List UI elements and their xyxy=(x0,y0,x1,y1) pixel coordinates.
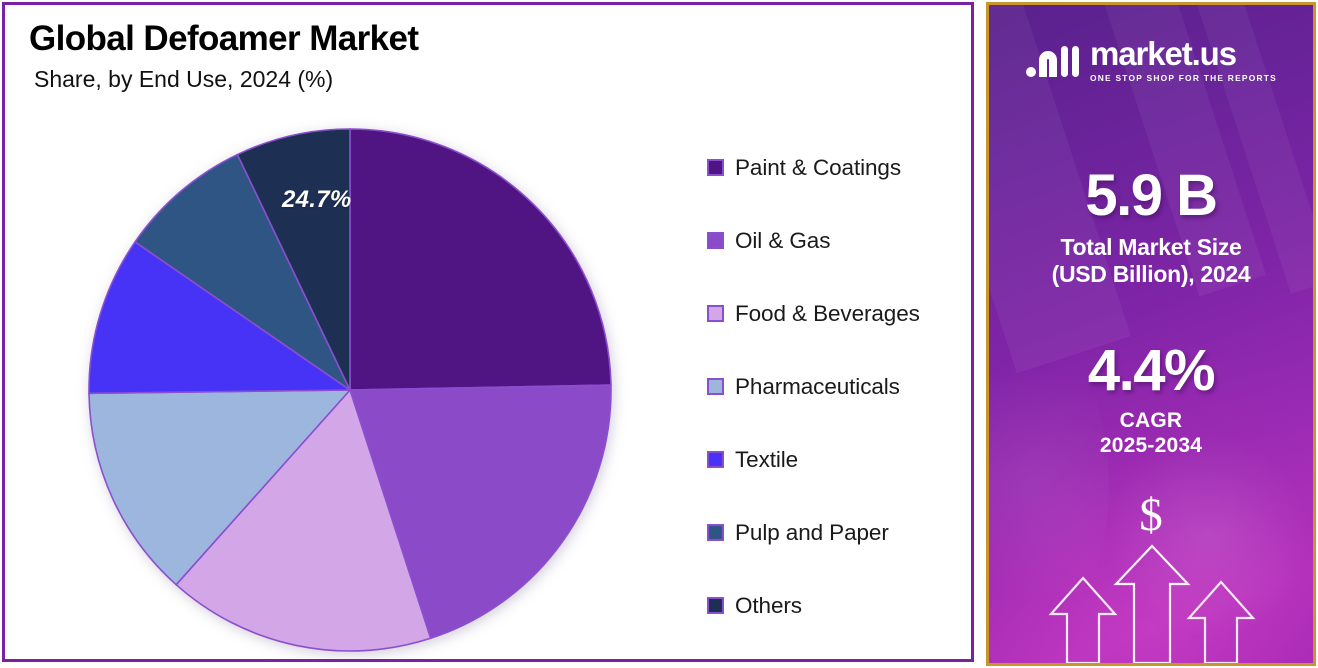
brand-stats-panel: market.us ONE STOP SHOP FOR THE REPORTS … xyxy=(986,2,1316,666)
pie-slice-label-paint-coatings: 24.7% xyxy=(282,186,352,214)
logo-text: market.us ONE STOP SHOP FOR THE REPORTS xyxy=(1090,37,1277,83)
legend-label: Pulp and Paper xyxy=(735,520,889,546)
legend-label: Pharmaceuticals xyxy=(735,374,900,400)
cagr-caption-line1: CAGR xyxy=(989,409,1313,434)
dollar-sign-icon: $ xyxy=(989,492,1313,539)
legend-label: Textile xyxy=(735,447,798,473)
legend-swatch-icon xyxy=(707,451,724,468)
legend-item-paint-coatings[interactable]: Paint & Coatings xyxy=(707,131,972,204)
market-size-caption-line2: (USD Billion), 2024 xyxy=(989,261,1313,288)
legend-label: Paint & Coatings xyxy=(735,155,901,181)
legend-label: Oil & Gas xyxy=(735,228,830,254)
cagr-stat: 4.4% CAGR 2025-2034 xyxy=(989,342,1313,459)
page-subtitle: Share, by End Use, 2024 (%) xyxy=(34,66,418,93)
market-size-value: 5.9 B xyxy=(989,167,1313,225)
page-title: Global Defoamer Market xyxy=(29,21,418,58)
pie-chart: 24.7% xyxy=(85,124,619,658)
market-size-caption-line1: Total Market Size xyxy=(989,234,1313,261)
logo-wordmark: market.us xyxy=(1090,37,1277,70)
legend-item-others[interactable]: Others xyxy=(707,569,972,642)
logo-tagline: ONE STOP SHOP FOR THE REPORTS xyxy=(1090,73,1277,83)
legend-swatch-icon xyxy=(707,378,724,395)
legend-item-food-beverages[interactable]: Food & Beverages xyxy=(707,277,972,350)
legend-item-textile[interactable]: Textile xyxy=(707,423,972,496)
arrow-up-center-icon xyxy=(1116,546,1188,663)
cagr-caption-line2: 2025-2034 xyxy=(989,434,1313,459)
title-block: Global Defoamer Market Share, by End Use… xyxy=(29,21,418,93)
legend-item-oil-gas[interactable]: Oil & Gas xyxy=(707,204,972,277)
arrow-up-right-icon xyxy=(1189,582,1253,663)
market-us-logo-icon xyxy=(1025,38,1081,82)
legend-item-pharmaceuticals[interactable]: Pharmaceuticals xyxy=(707,350,972,423)
legend-label: Others xyxy=(735,593,802,619)
legend-label: Food & Beverages xyxy=(735,301,920,327)
growth-arrows-graphic: $ xyxy=(989,478,1313,663)
pie-slice[interactable] xyxy=(350,129,611,390)
legend-swatch-icon xyxy=(707,232,724,249)
pie-svg xyxy=(85,124,619,658)
legend-swatch-icon xyxy=(707,597,724,614)
brand-logo: market.us ONE STOP SHOP FOR THE REPORTS xyxy=(989,37,1313,83)
chart-panel: Global Defoamer Market Share, by End Use… xyxy=(2,2,974,662)
legend-swatch-icon xyxy=(707,524,724,541)
legend-swatch-icon xyxy=(707,159,724,176)
infographic-root: Global Defoamer Market Share, by End Use… xyxy=(0,0,1318,668)
arrow-up-left-icon xyxy=(1051,578,1115,663)
market-size-stat: 5.9 B Total Market Size (USD Billion), 2… xyxy=(989,167,1313,288)
legend: Paint & Coatings Oil & Gas Food & Bevera… xyxy=(707,131,972,642)
legend-item-pulp-and-paper[interactable]: Pulp and Paper xyxy=(707,496,972,569)
cagr-value: 4.4% xyxy=(989,342,1313,400)
legend-swatch-icon xyxy=(707,305,724,322)
